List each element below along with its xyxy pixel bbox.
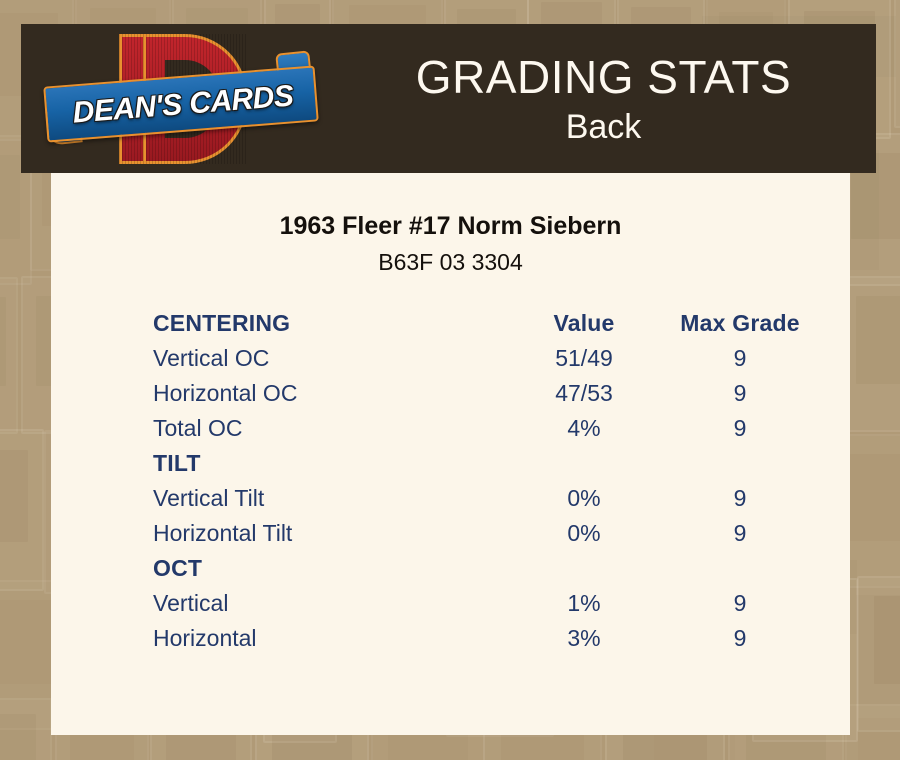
section-header-tilt: TILT [153,446,503,481]
grading-stats-table: CENTERINGValueMax GradeVertical OC51/499… [153,306,815,656]
section-header-centering: CENTERING [153,306,503,341]
table-row: Horizontal Tilt0%9 [153,516,815,551]
table-row: Horizontal OC47/539 [153,376,815,411]
section-header-oct: OCT [153,551,503,586]
stat-max-grade: 9 [665,516,815,551]
column-header-max-grade: Max Grade [665,306,815,341]
stat-value: 47/53 [503,376,665,411]
page-subtitle: Back [566,106,642,148]
stat-value: 4% [503,411,665,446]
stat-label: Horizontal OC [153,376,503,411]
stat-value: 51/49 [503,341,665,376]
header-bar: DEAN'S CARDS GRADING STATS Back [21,24,876,173]
stat-value: 3% [503,621,665,656]
section-header-row: TILT [153,446,815,481]
stat-label: Horizontal [153,621,503,656]
table-row: Total OC4%9 [153,411,815,446]
stat-value: 0% [503,516,665,551]
page-title: GRADING STATS [416,50,791,104]
stat-label: Vertical [153,586,503,621]
table-row: Vertical Tilt0%9 [153,481,815,516]
stat-label: Total OC [153,411,503,446]
stat-max-grade: 9 [665,481,815,516]
stat-label: Vertical OC [153,341,503,376]
stat-max-grade: 9 [665,411,815,446]
section-spacer-grade [665,446,815,481]
card-subtitle: B63F 03 3304 [51,248,850,276]
stat-max-grade: 9 [665,341,815,376]
column-header-value: Value [503,306,665,341]
card-title: 1963 Fleer #17 Norm Siebern [51,211,850,241]
header-titles: GRADING STATS Back [331,24,876,173]
stat-label: Horizontal Tilt [153,516,503,551]
deans-cards-logo: DEAN'S CARDS [45,28,325,170]
section-header-row: OCT [153,551,815,586]
stat-max-grade: 9 [665,621,815,656]
stat-max-grade: 9 [665,376,815,411]
stat-value: 1% [503,586,665,621]
section-spacer-value [503,551,665,586]
section-spacer-grade [665,551,815,586]
stat-value: 0% [503,481,665,516]
table-row: Horizontal3%9 [153,621,815,656]
table-header-row: CENTERINGValueMax Grade [153,306,815,341]
content-panel: 1963 Fleer #17 Norm Siebern B63F 03 3304… [51,173,850,735]
table-row: Vertical1%9 [153,586,815,621]
table-row: Vertical OC51/499 [153,341,815,376]
stat-max-grade: 9 [665,586,815,621]
section-spacer-value [503,446,665,481]
stat-label: Vertical Tilt [153,481,503,516]
